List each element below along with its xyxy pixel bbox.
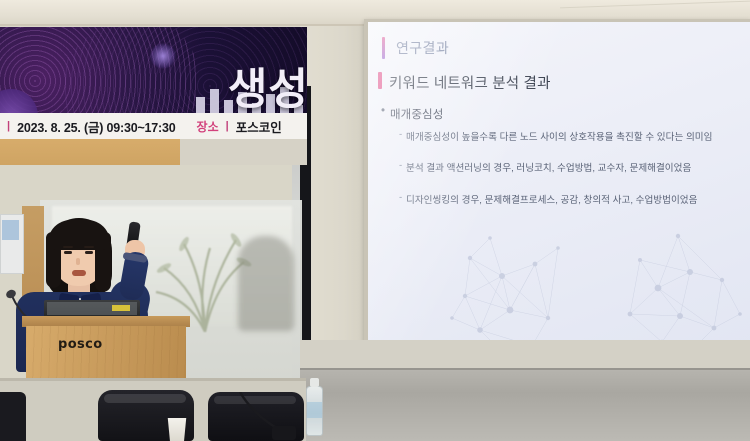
table-microphone (236, 392, 296, 441)
strip-divider-icon: | (7, 120, 10, 132)
back-wall-base (300, 340, 750, 370)
bottle-cap (310, 378, 319, 387)
projection-screen: 연구결과 키워드 네트워크 분석 결과 매개중심성 매개중심성이 높을수록 다른… (368, 22, 750, 382)
speaker-mouth (72, 270, 86, 276)
wood-panel-strip (0, 139, 180, 165)
wall-strip (180, 139, 307, 165)
banner-title: 생성 (228, 69, 307, 112)
slide-title: 연구결과 (396, 38, 449, 58)
place-divider-icon: | (226, 120, 229, 132)
banner-info-strip: | 2023. 8. 25. (금) 09:30~17:30 장소 | 포스코인 (0, 113, 307, 139)
table-surface (300, 370, 750, 441)
water-bottle (306, 378, 323, 436)
chair-highlight (104, 394, 186, 403)
slide-sub-bullet: 분석 결과 액션러닝의 경우, 러닝코치, 수업방법, 교수자, 문제해결이었음 (406, 160, 691, 174)
slide-bullet: 매개중심성 (390, 106, 443, 122)
event-date: 2023. 8. 25. (금) 09:30~17:30 (17, 117, 175, 136)
title-accent-bar (382, 37, 385, 59)
background-silhouette (238, 236, 294, 331)
speaker-eyebrow-right (84, 246, 94, 248)
event-banner: 생성 (0, 27, 307, 113)
speaker-eye-right (85, 251, 93, 254)
speaker-eyebrow-left (63, 246, 73, 248)
subtitle-accent-bar (378, 72, 382, 89)
network-graph-design-thinking (610, 218, 750, 358)
event-place: 포스코인 (236, 117, 282, 136)
laptop-sticker (112, 305, 130, 311)
bottle-label (307, 402, 322, 418)
presentation-photo-scene: 생성 | 2023. 8. 25. (금) 09:30~17:30 장소 | 포… (0, 0, 750, 441)
speaker-eye-left (64, 251, 72, 254)
speaker-nose (76, 258, 80, 265)
slide-sub-bullet: 매개중심성이 높을수록 다른 노드 사이의 상호작용을 촉진할 수 있다는 의미… (406, 129, 712, 143)
slide-sub-bullet: 디자인씽킹의 경우, 문제해결프로세스, 공감, 창의적 사고, 수업방법이었음 (406, 192, 697, 206)
podium-logo: posco (58, 337, 103, 352)
place-label: 장소 (197, 118, 219, 135)
banner-glow (150, 43, 176, 69)
foreground-dark-object (0, 392, 26, 441)
speaker-hair-front (48, 220, 110, 250)
slide-subtitle: 키워드 네트워크 분석 결과 (389, 72, 551, 93)
network-graph-action-learning (440, 218, 580, 358)
